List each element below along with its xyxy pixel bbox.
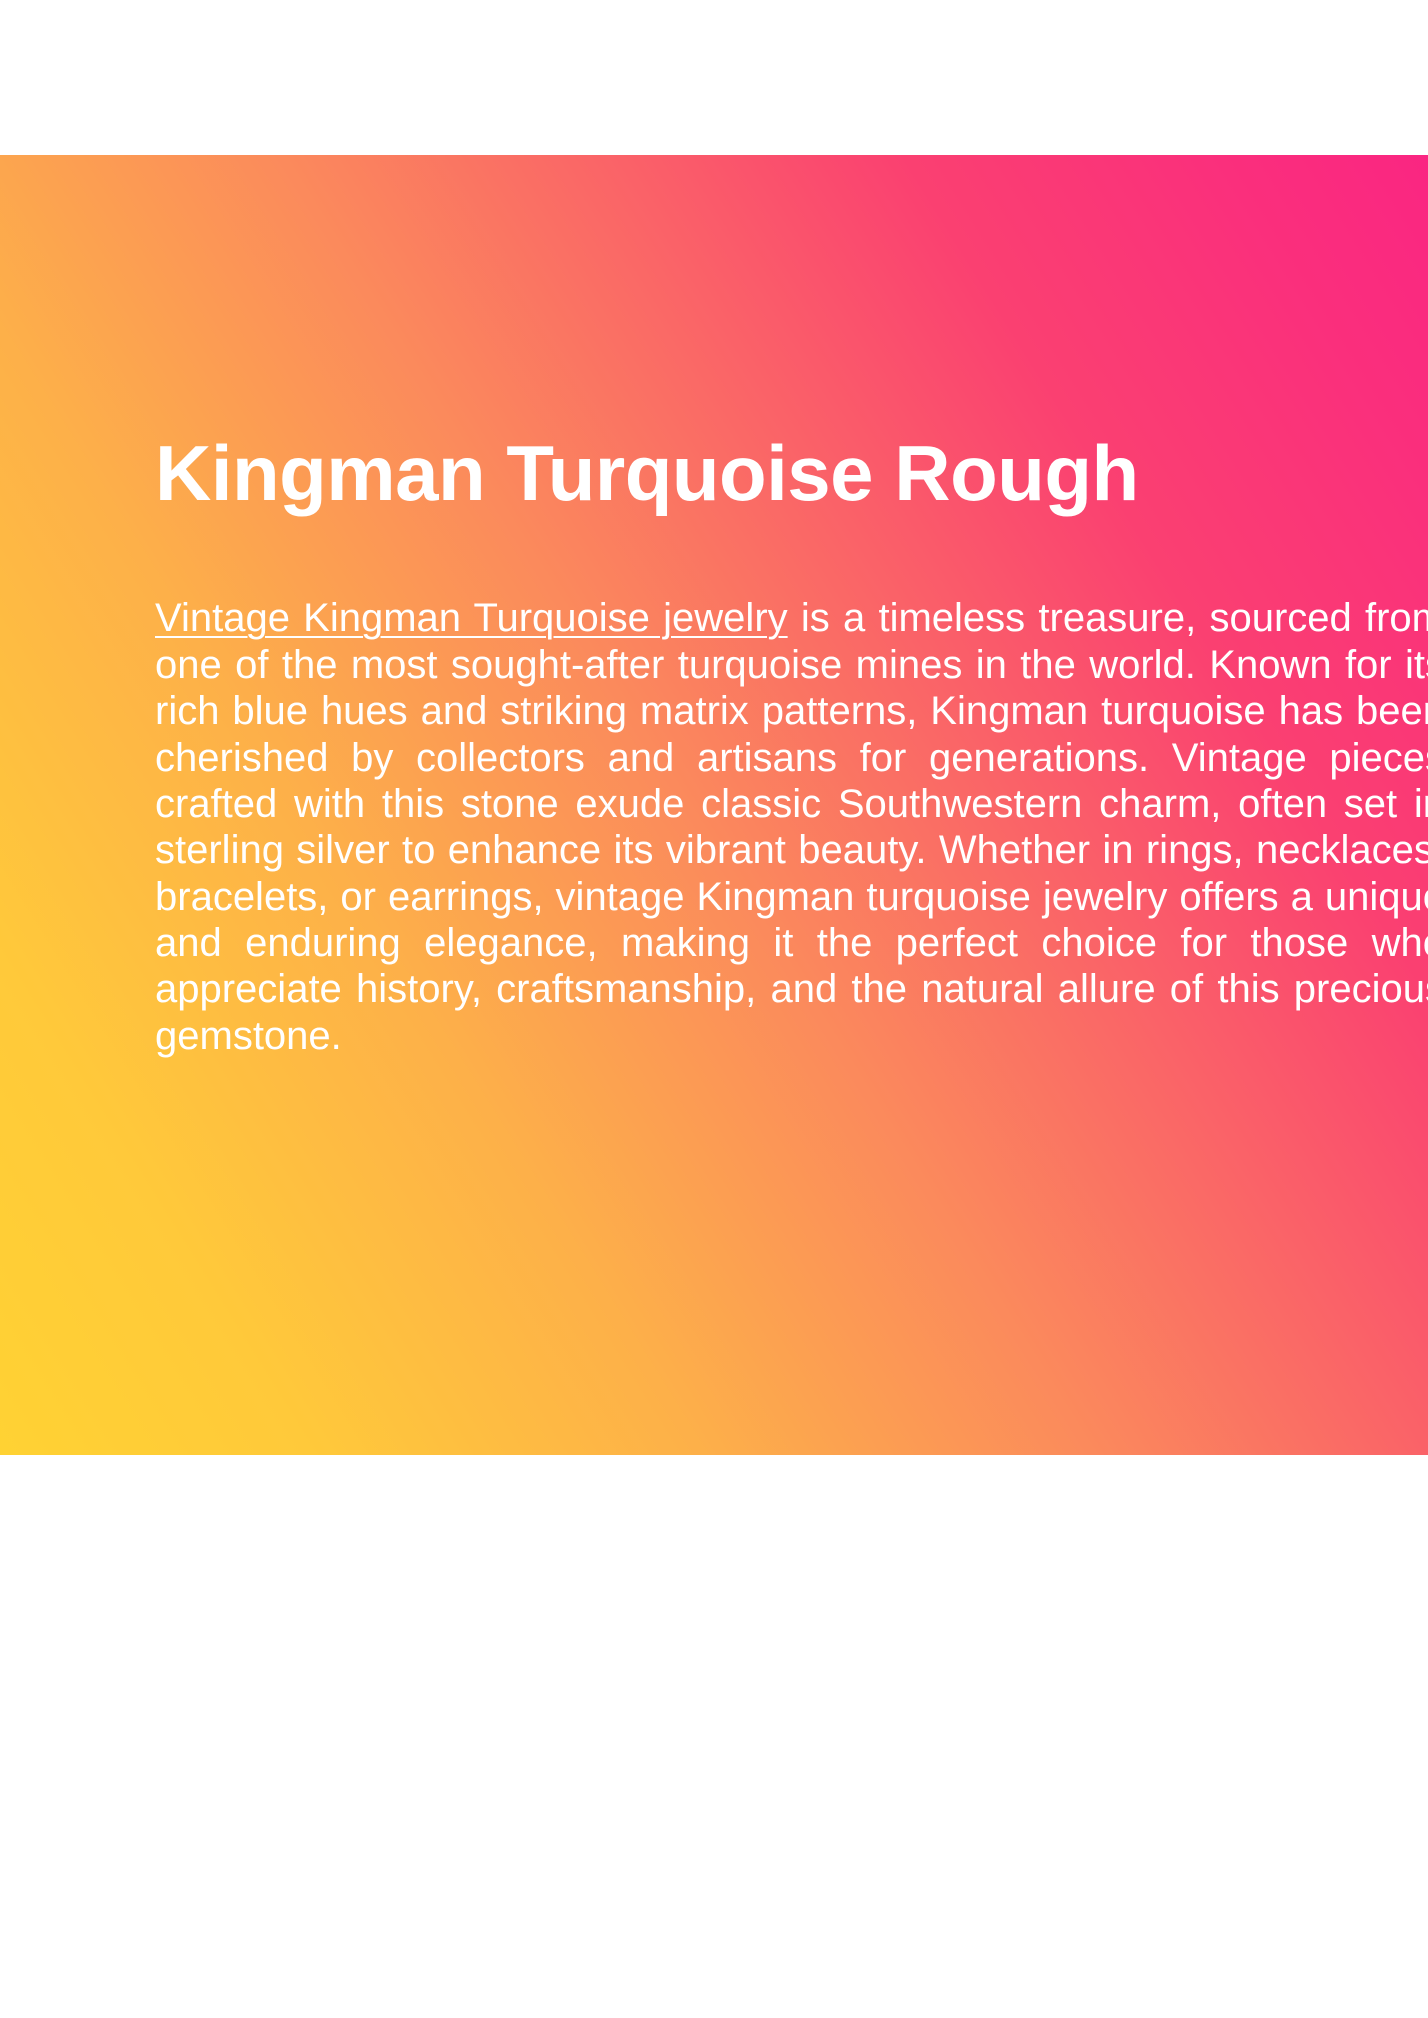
hero-content: Kingman Turquoise Rough Vintage Kingman … [155, 155, 1428, 1059]
page-title: Kingman Turquoise Rough [155, 155, 1428, 517]
page-root: Kingman Turquoise Rough Vintage Kingman … [0, 0, 1428, 2018]
hero-body-rest: is a timeless treasure, sourced from one… [155, 596, 1428, 1058]
hero-gradient-panel: Kingman Turquoise Rough Vintage Kingman … [0, 155, 1428, 1455]
top-white-strip [0, 0, 1428, 155]
vintage-kingman-turquoise-jewelry-link[interactable]: Vintage Kingman Turquoise jewelry [155, 596, 788, 640]
bottom-white-strip [0, 1455, 1428, 2018]
hero-body-text: Vintage Kingman Turquoise jewelry is a t… [155, 517, 1428, 1059]
